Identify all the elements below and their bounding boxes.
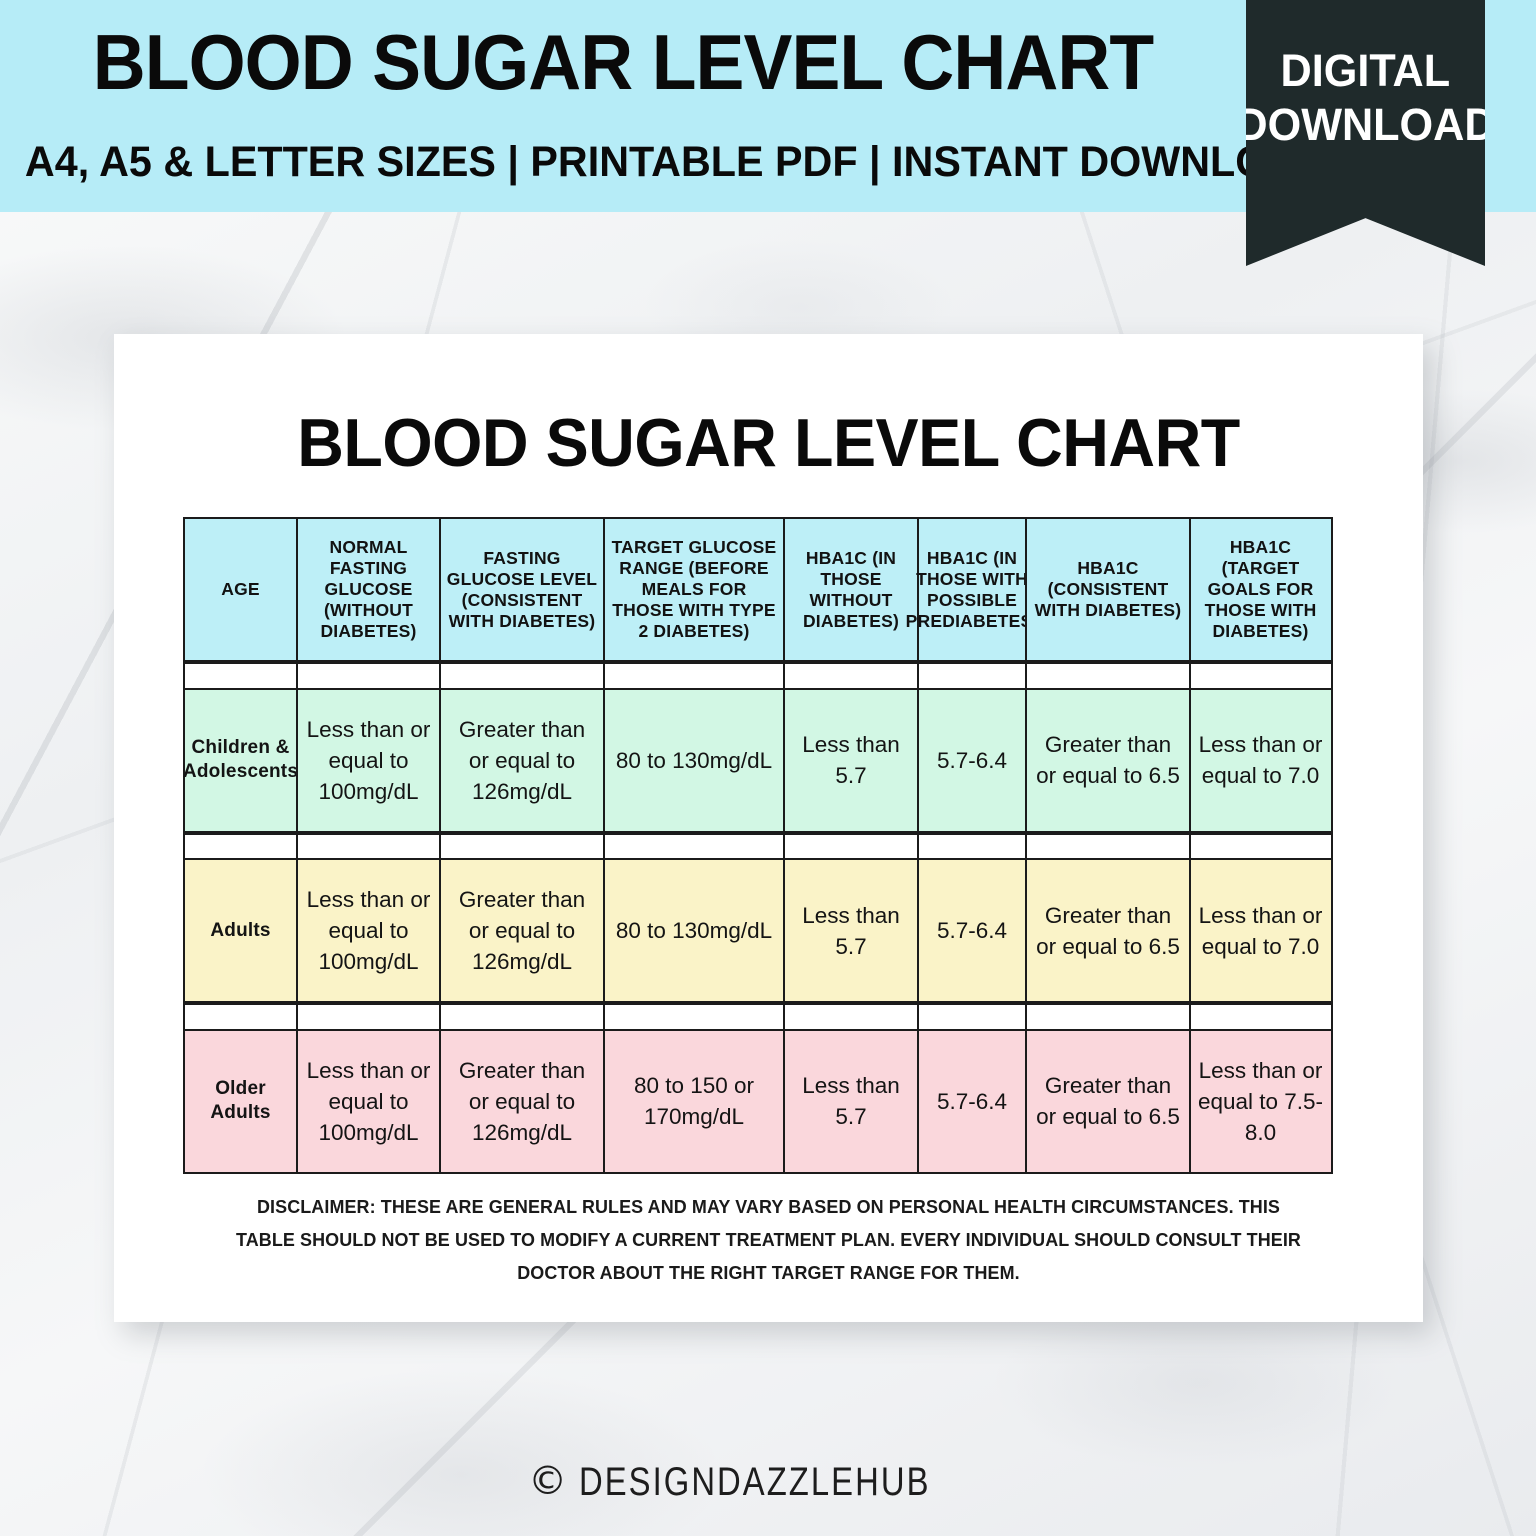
cell-value: 5.7-6.4 [917, 688, 1028, 833]
banner-title: BLOOD SUGAR LEVEL CHART [37, 20, 1208, 104]
blood-sugar-table: AGE NORMAL FASTING GLUCOSE (WITHOUT DIAB… [183, 517, 1350, 1174]
copyright-icon: © [528, 1461, 567, 1503]
table-row: Adults Less than or equal to 100mg/dL Gr… [183, 858, 1350, 1003]
ribbon-line-download: DOWNLOAD [1236, 98, 1495, 152]
table-row: Older Adults Less than or equal to 100mg… [183, 1029, 1350, 1174]
column-header-hba1c-without: HBA1C (IN THOSE WITHOUT DIABETES) [783, 517, 919, 662]
cell-value: 80 to 130mg/dL [603, 688, 786, 833]
banner-subtitle: A4, A5 & LETTER SIZES | PRINTABLE PDF | … [25, 138, 1221, 186]
row-label-children: Children & Adolescents [183, 688, 298, 833]
cell-value: 80 to 130mg/dL [603, 858, 786, 1003]
brand-footer: © DESIGNDAZZLEHUB [0, 1460, 1536, 1504]
cell-value: Greater than or equal to 126mg/dL [439, 1029, 605, 1174]
cell-value: 5.7-6.4 [917, 858, 1028, 1003]
cell-value: Greater than or equal to 126mg/dL [439, 688, 605, 833]
cell-value: Less than 5.7 [783, 688, 919, 833]
cell-value: Less than or equal to 7.0 [1189, 688, 1333, 833]
table-spacer-row [183, 662, 1350, 690]
cell-value: Less than 5.7 [783, 1029, 919, 1174]
ribbon-line-digital: DIGITAL [1281, 44, 1451, 98]
brand-name: DESIGNDAZZLEHUB [579, 1460, 931, 1504]
table-row: Children & Adolescents Less than or equa… [183, 688, 1350, 833]
cell-value: Greater than or equal to 6.5 [1025, 1029, 1191, 1174]
chart-title: BLOOD SUGAR LEVEL CHART [147, 406, 1391, 480]
cell-value: Less than 5.7 [783, 858, 919, 1003]
cell-value: Less than or equal to 100mg/dL [296, 688, 442, 833]
cell-value: Greater than or equal to 6.5 [1025, 858, 1191, 1003]
table-spacer-row [183, 1003, 1350, 1031]
cell-value: Less than or equal to 100mg/dL [296, 1029, 442, 1174]
row-label-older-adults: Older Adults [183, 1029, 298, 1174]
column-header-fasting-level: FASTING GLUCOSE LEVEL (CONSISTENT WITH D… [439, 517, 605, 662]
table-header-row: AGE NORMAL FASTING GLUCOSE (WITHOUT DIAB… [183, 517, 1350, 662]
column-header-hba1c-target: HBA1C (TARGET GOALS FOR THOSE WITH DIABE… [1189, 517, 1333, 662]
column-header-hba1c-diabetes: HBA1C (CONSISTENT WITH DIABETES) [1025, 517, 1191, 662]
cell-value: Greater than or equal to 6.5 [1025, 688, 1191, 833]
printable-chart-card: BLOOD SUGAR LEVEL CHART AGE NORMAL FASTI… [114, 334, 1423, 1322]
column-header-normal-fasting: NORMAL FASTING GLUCOSE (WITHOUT DIABETES… [296, 517, 442, 662]
row-label-adults: Adults [183, 858, 298, 1003]
column-header-hba1c-prediab: HBA1C (IN THOSE WITH POSSIBLE PREDIABETE… [917, 517, 1028, 662]
column-header-age: AGE [183, 517, 298, 662]
cell-value: Less than or equal to 7.5-8.0 [1189, 1029, 1333, 1174]
cell-value: Less than or equal to 7.0 [1189, 858, 1333, 1003]
cell-value: Greater than or equal to 126mg/dL [439, 858, 605, 1003]
cell-value: 5.7-6.4 [917, 1029, 1028, 1174]
disclaimer-text: DISCLAIMER: THESE ARE GENERAL RULES AND … [234, 1190, 1304, 1289]
cell-value: 80 to 150 or 170mg/dL [603, 1029, 786, 1174]
table-spacer-row [183, 833, 1350, 861]
cell-value: Less than or equal to 100mg/dL [296, 858, 442, 1003]
column-header-target-range: TARGET GLUCOSE RANGE (BEFORE MEALS FOR T… [603, 517, 786, 662]
